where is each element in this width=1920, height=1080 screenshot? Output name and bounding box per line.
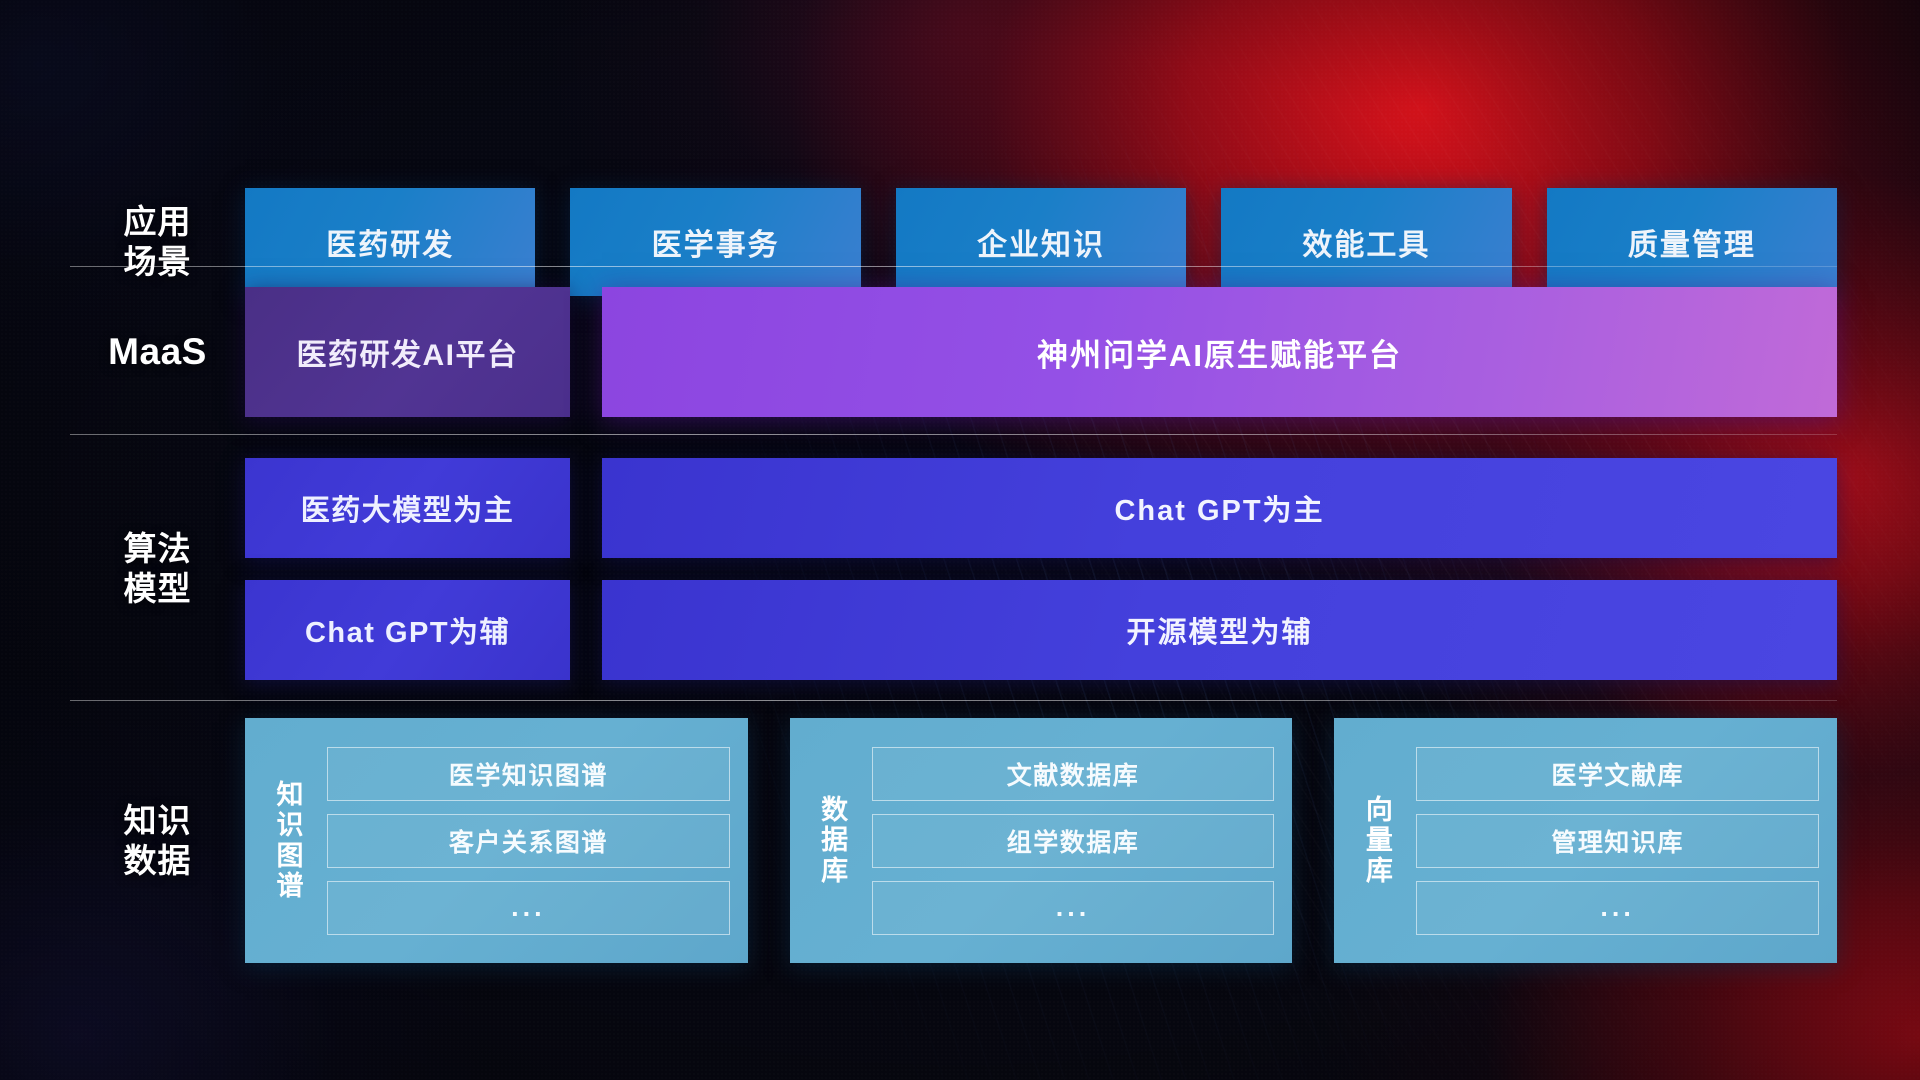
app-box-efficiency-tools[interactable]: 效能工具	[1221, 188, 1511, 296]
vlabel-char: 图	[277, 841, 304, 871]
algo-box-opensource-secondary[interactable]: 开源模型为辅	[602, 580, 1837, 680]
maas-box-drug-rnd-ai-platform[interactable]: 医药研发AI平台	[245, 287, 570, 417]
knowledge-item-list: 医学文献库 管理知识库 ...	[1416, 734, 1819, 947]
vlabel-char: 知	[277, 780, 304, 810]
row-label-application-scenarios: 应用 场景	[70, 202, 245, 281]
algorithm-model-lines: 医药大模型为主 Chat GPT为主 Chat GPT为辅 开源模型为辅	[245, 458, 1837, 680]
row-label-knowledge-data: 知识 数据	[70, 801, 245, 880]
knowledge-item-medical-literature-store[interactable]: 医学文献库	[1416, 747, 1819, 801]
divider-algo-knowledge	[70, 700, 1837, 701]
row-label-line-2: 场景	[70, 242, 245, 282]
row-knowledge-data: 知识 数据 知 识 图 谱 医学知识图谱 客户关系图谱 ...	[70, 718, 1837, 963]
vlabel-char: 量	[1366, 825, 1393, 855]
row-label-maas: MaaS	[70, 330, 245, 374]
application-scenario-boxes: 医药研发 医学事务 企业知识 效能工具 质量管理	[245, 188, 1837, 296]
vlabel-char: 库	[821, 856, 848, 886]
architecture-diagram: 应用 场景 医药研发 医学事务 企业知识 效能工具 质量管理 MaaS 医药研发…	[0, 0, 1920, 1080]
knowledge-block-vector-store[interactable]: 向 量 库 医学文献库 管理知识库 ...	[1334, 718, 1837, 963]
knowledge-item-more[interactable]: ...	[872, 881, 1275, 935]
knowledge-item-more[interactable]: ...	[1416, 881, 1819, 935]
slide-canvas: 应用 场景 医药研发 医学事务 企业知识 效能工具 质量管理 MaaS 医药研发…	[0, 0, 1920, 1080]
maas-boxes: 医药研发AI平台 神州问学AI原生赋能平台	[245, 287, 1837, 417]
app-box-drug-rnd[interactable]: 医药研发	[245, 188, 535, 296]
knowledge-item-omics-database[interactable]: 组学数据库	[872, 814, 1275, 868]
knowledge-block-vertical-label: 向 量 库	[1342, 734, 1416, 947]
row-label-line-1: 知识	[70, 801, 245, 841]
row-algorithm-models: 算法 模型 医药大模型为主 Chat GPT为主 Chat GPT为辅 开源模型…	[70, 458, 1837, 680]
row-application-scenarios: 应用 场景 医药研发 医学事务 企业知识 效能工具 质量管理	[70, 188, 1837, 296]
knowledge-item-customer-relation-graph[interactable]: 客户关系图谱	[327, 814, 730, 868]
algo-box-chatgpt-primary[interactable]: Chat GPT为主	[602, 458, 1837, 558]
vlabel-char: 据	[821, 825, 848, 855]
row-label-line-2: 数据	[70, 841, 245, 881]
knowledge-item-more[interactable]: ...	[327, 881, 730, 935]
divider-maas-algo	[70, 434, 1837, 435]
knowledge-block-knowledge-graph[interactable]: 知 识 图 谱 医学知识图谱 客户关系图谱 ...	[245, 718, 748, 963]
row-label-line-1: 算法	[70, 529, 245, 569]
vlabel-char: 数	[821, 795, 848, 825]
row-maas: MaaS 医药研发AI平台 神州问学AI原生赋能平台	[70, 287, 1837, 417]
app-box-enterprise-knowledge[interactable]: 企业知识	[896, 188, 1186, 296]
algorithm-line-primary: 医药大模型为主 Chat GPT为主	[245, 458, 1837, 558]
knowledge-block-vertical-label: 知 识 图 谱	[253, 734, 327, 947]
row-label-line-1: 应用	[70, 202, 245, 242]
row-label-line-2: 模型	[70, 569, 245, 609]
app-box-quality-management[interactable]: 质量管理	[1547, 188, 1837, 296]
knowledge-blocks: 知 识 图 谱 医学知识图谱 客户关系图谱 ... 数 据	[245, 718, 1837, 963]
algo-box-chatgpt-secondary[interactable]: Chat GPT为辅	[245, 580, 570, 680]
vlabel-char: 识	[277, 810, 304, 840]
knowledge-block-vertical-label: 数 据 库	[798, 734, 872, 947]
divider-apps-maas	[70, 266, 1837, 267]
knowledge-block-database[interactable]: 数 据 库 文献数据库 组学数据库 ...	[790, 718, 1293, 963]
vlabel-char: 向	[1366, 795, 1393, 825]
algorithm-line-secondary: Chat GPT为辅 开源模型为辅	[245, 580, 1837, 680]
knowledge-item-management-knowledge-store[interactable]: 管理知识库	[1416, 814, 1819, 868]
algo-box-pharma-llm-primary[interactable]: 医药大模型为主	[245, 458, 570, 558]
knowledge-item-literature-database[interactable]: 文献数据库	[872, 747, 1275, 801]
app-box-medical-affairs[interactable]: 医学事务	[570, 188, 860, 296]
knowledge-item-medical-knowledge-graph[interactable]: 医学知识图谱	[327, 747, 730, 801]
knowledge-item-list: 医学知识图谱 客户关系图谱 ...	[327, 734, 730, 947]
vlabel-char: 谱	[277, 871, 304, 901]
knowledge-item-list: 文献数据库 组学数据库 ...	[872, 734, 1275, 947]
vlabel-char: 库	[1366, 856, 1393, 886]
maas-box-shenzhou-wenxue-platform[interactable]: 神州问学AI原生赋能平台	[602, 287, 1837, 417]
row-label-algorithm-models: 算法 模型	[70, 529, 245, 608]
